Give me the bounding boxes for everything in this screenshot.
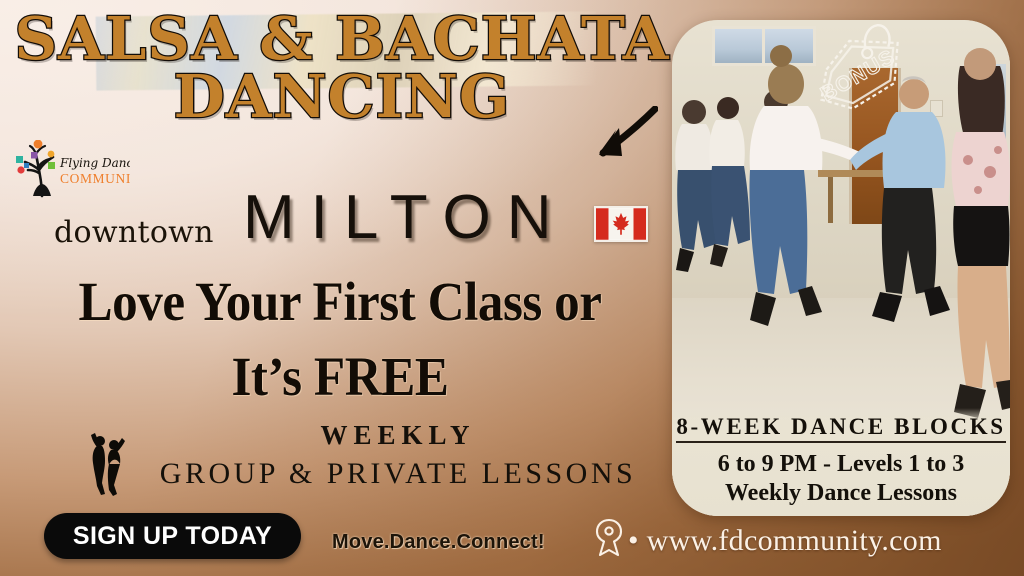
offer-line-1: Love Your First Class or: [24, 270, 656, 333]
caption-line-2: Weekly Dance Lessons: [672, 480, 1010, 507]
sign-up-button[interactable]: SIGN UP TODAY: [44, 513, 301, 559]
brand-tagline: Move.Dance.Connect!: [332, 531, 545, 554]
promotional-poster: SALSA & BACHATA DANCING Flying Dance COM…: [0, 0, 1024, 576]
title-brushstroke-texture: [96, 11, 597, 90]
location-prefix: downtown: [54, 215, 214, 250]
caption-title: 8-WEEK DANCE BLOCKS: [676, 414, 1005, 443]
website-url[interactable]: • www.fdcommunity.com: [628, 524, 942, 558]
logo-name-line-2: COMMUNITY: [60, 171, 130, 186]
tree-with-dancers-icon: [16, 140, 55, 196]
city-name: MILTON: [243, 182, 568, 253]
logo-name-line-1: Flying Dance: [59, 156, 130, 170]
canada-flag-icon: [594, 206, 648, 242]
dancer-man-blue-shirt: [850, 76, 950, 322]
lessons-line-1: WEEKLY: [120, 420, 676, 451]
photo-caption: 8-WEEK DANCE BLOCKS 6 to 9 PM - Levels 1…: [672, 408, 1010, 516]
flying-dance-community-logo: Flying Dance COMMUNITY: [12, 140, 130, 198]
url-bullet: •: [628, 524, 639, 557]
location-pin-icon: [594, 518, 624, 558]
lessons-info: WEEKLY GROUP & PRIVATE LESSONS: [120, 420, 676, 491]
url-text: www.fdcommunity.com: [647, 524, 942, 557]
dance-class-photo-card: BONUS 8-WEEK DANCE BLOCKS 6 to 9 PM - Le…: [672, 20, 1010, 516]
lessons-line-2: GROUP & PRIVATE LESSONS: [120, 457, 676, 491]
down-left-arrow-icon: [586, 106, 658, 168]
dancer-right-woman: [952, 48, 1011, 418]
dancer-back-left-a: [675, 100, 716, 272]
offer-line-2: It’s FREE: [24, 345, 656, 408]
offer-statement: Love Your First Class or It’s FREE: [0, 270, 680, 408]
caption-line-1: 6 to 9 PM - Levels 1 to 3: [672, 451, 1010, 478]
bonus-badge-label: BONUS: [817, 45, 899, 106]
dance-class-photo: BONUS 8-WEEK DANCE BLOCKS 6 to 9 PM - Le…: [672, 20, 1010, 516]
